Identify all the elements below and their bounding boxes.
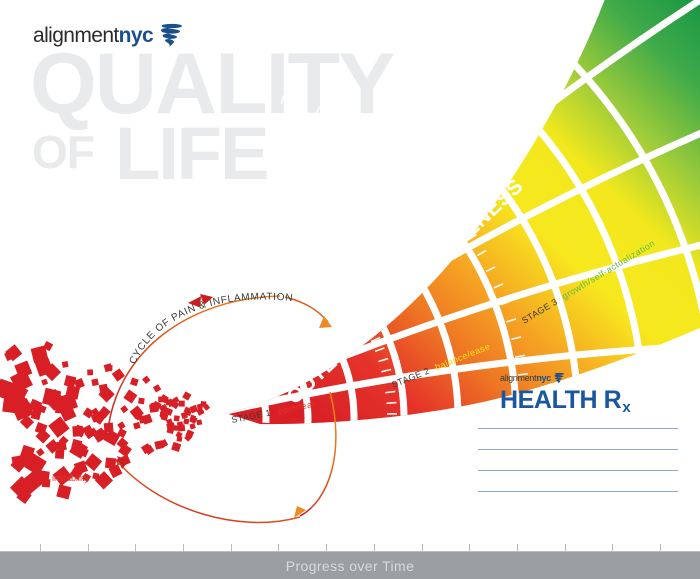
cycle-label-text: CYCLE OF PAIN & INFLAMMATION xyxy=(128,292,294,366)
axis-tick xyxy=(278,544,279,552)
instability-square xyxy=(142,376,150,384)
instability-square xyxy=(179,401,185,407)
axis-tick xyxy=(40,544,41,552)
stage-seam-tick xyxy=(321,266,328,274)
instability-square xyxy=(178,424,185,431)
instability-square xyxy=(171,442,181,452)
rx-brand-alignment: alignment xyxy=(500,373,536,383)
axis-tick xyxy=(517,544,518,552)
instability-square xyxy=(182,391,191,400)
health-rx-title: HEALTH Rx xyxy=(500,387,678,416)
prescription-line xyxy=(478,470,678,471)
instability-square xyxy=(139,415,147,423)
axis-tick xyxy=(183,544,184,552)
instability-square xyxy=(183,418,189,424)
instability-square xyxy=(35,470,50,485)
stage-seam-tick xyxy=(343,290,351,296)
axis-tick xyxy=(612,544,613,552)
axis-tick xyxy=(469,544,470,552)
prescription-lines xyxy=(478,428,678,492)
stage-seam-tick xyxy=(332,114,336,123)
axis-tick xyxy=(374,544,375,552)
instability-square xyxy=(55,450,64,459)
health-rx-card: alignmentnyc HEALTH Rx xyxy=(478,372,678,512)
axis-tick xyxy=(422,544,423,552)
instability-square xyxy=(196,407,204,415)
stage-seam-tick xyxy=(364,131,369,140)
instability-square xyxy=(87,369,93,375)
instability-squares xyxy=(0,341,210,504)
instability-square xyxy=(123,390,137,404)
stage-seam-tick xyxy=(386,403,396,404)
stage-seam-tick xyxy=(434,190,441,197)
instability-square xyxy=(56,484,71,499)
instability-square xyxy=(138,398,145,405)
stage-seam-tick xyxy=(316,107,320,116)
stage-seam-tick xyxy=(286,241,291,250)
stage-seam-tick xyxy=(256,227,259,236)
instability-square xyxy=(112,368,125,381)
rx-brand-nyc: nyc xyxy=(536,373,551,383)
axis-bar: Progress over Time xyxy=(0,552,700,579)
brand-name-nyc: nyc xyxy=(119,24,153,47)
stage-seam-tick xyxy=(356,308,364,313)
stage-seam-tick xyxy=(266,231,270,240)
instability-square xyxy=(55,402,67,414)
infographic-canvas: QUALITY OF LIFE xyxy=(0,0,700,579)
instability-square xyxy=(20,454,31,465)
brand-name-alignment: alignment xyxy=(33,24,119,47)
axis-label: Progress over Time xyxy=(286,558,415,574)
stage-seam-tick xyxy=(313,259,319,267)
rx-brand-logo: alignmentnyc xyxy=(500,372,678,384)
cycle-label: CYCLE OF PAIN & INFLAMMATION xyxy=(128,292,294,366)
stage-seam-tick xyxy=(394,153,400,161)
stage-seam-tick xyxy=(349,122,354,131)
brand-wordmark: alignmentnyc xyxy=(33,25,153,46)
health-rx-title-text: HEALTH R xyxy=(500,386,621,414)
brand-logo: alignmentnyc xyxy=(33,22,184,48)
stage-seam-tick xyxy=(350,299,358,305)
instability-square xyxy=(189,423,195,429)
stage-seam-tick xyxy=(329,273,336,280)
instability-square xyxy=(149,403,158,412)
stage-seam-tick xyxy=(264,90,266,100)
stage-seam-tick xyxy=(225,219,227,229)
instability-square xyxy=(174,415,180,421)
instability-label: instability xyxy=(52,473,90,483)
axis-tick xyxy=(326,544,327,552)
stage-seam-tick xyxy=(422,177,429,184)
rx-spiral-tornado-icon xyxy=(554,372,565,384)
instability-square xyxy=(36,448,45,457)
stage-seam-tick xyxy=(446,204,454,210)
stage-seam-tick xyxy=(380,142,386,150)
instability-square xyxy=(120,405,128,413)
stage-seam-tick xyxy=(295,246,300,255)
health-rx-subscript: x xyxy=(622,399,630,416)
prescription-line xyxy=(478,491,678,492)
axis-tick xyxy=(565,544,566,552)
axis-tick xyxy=(231,544,232,552)
instability-square xyxy=(153,384,161,392)
stage-seam-tick xyxy=(299,100,302,109)
spiral-tornado-icon xyxy=(160,22,184,48)
instability-square xyxy=(91,378,99,386)
instability-square xyxy=(196,419,202,425)
instability-square xyxy=(41,379,48,386)
stage-seam-tick xyxy=(281,95,284,105)
instability-square xyxy=(117,421,125,429)
stage-seam-tick xyxy=(304,252,310,260)
axis-tick xyxy=(135,544,136,552)
stage-seam-tick xyxy=(246,87,248,97)
stage-seam-tick xyxy=(336,281,343,288)
instability-square xyxy=(62,361,69,368)
stage-seam-tick xyxy=(236,221,238,231)
instability-square xyxy=(130,378,139,387)
instability-square xyxy=(99,384,109,394)
rx-brand-wordmark: alignmentnyc xyxy=(500,374,551,383)
stage-seam-tick xyxy=(276,236,280,245)
instability-square xyxy=(166,422,175,431)
axis-tick xyxy=(88,544,89,552)
axis-tick xyxy=(660,544,661,552)
instability-square xyxy=(133,422,141,430)
prescription-line xyxy=(478,449,678,450)
stage-seam-tick xyxy=(408,164,415,172)
prescription-line xyxy=(478,428,678,429)
stage-seam-tick xyxy=(246,224,249,234)
